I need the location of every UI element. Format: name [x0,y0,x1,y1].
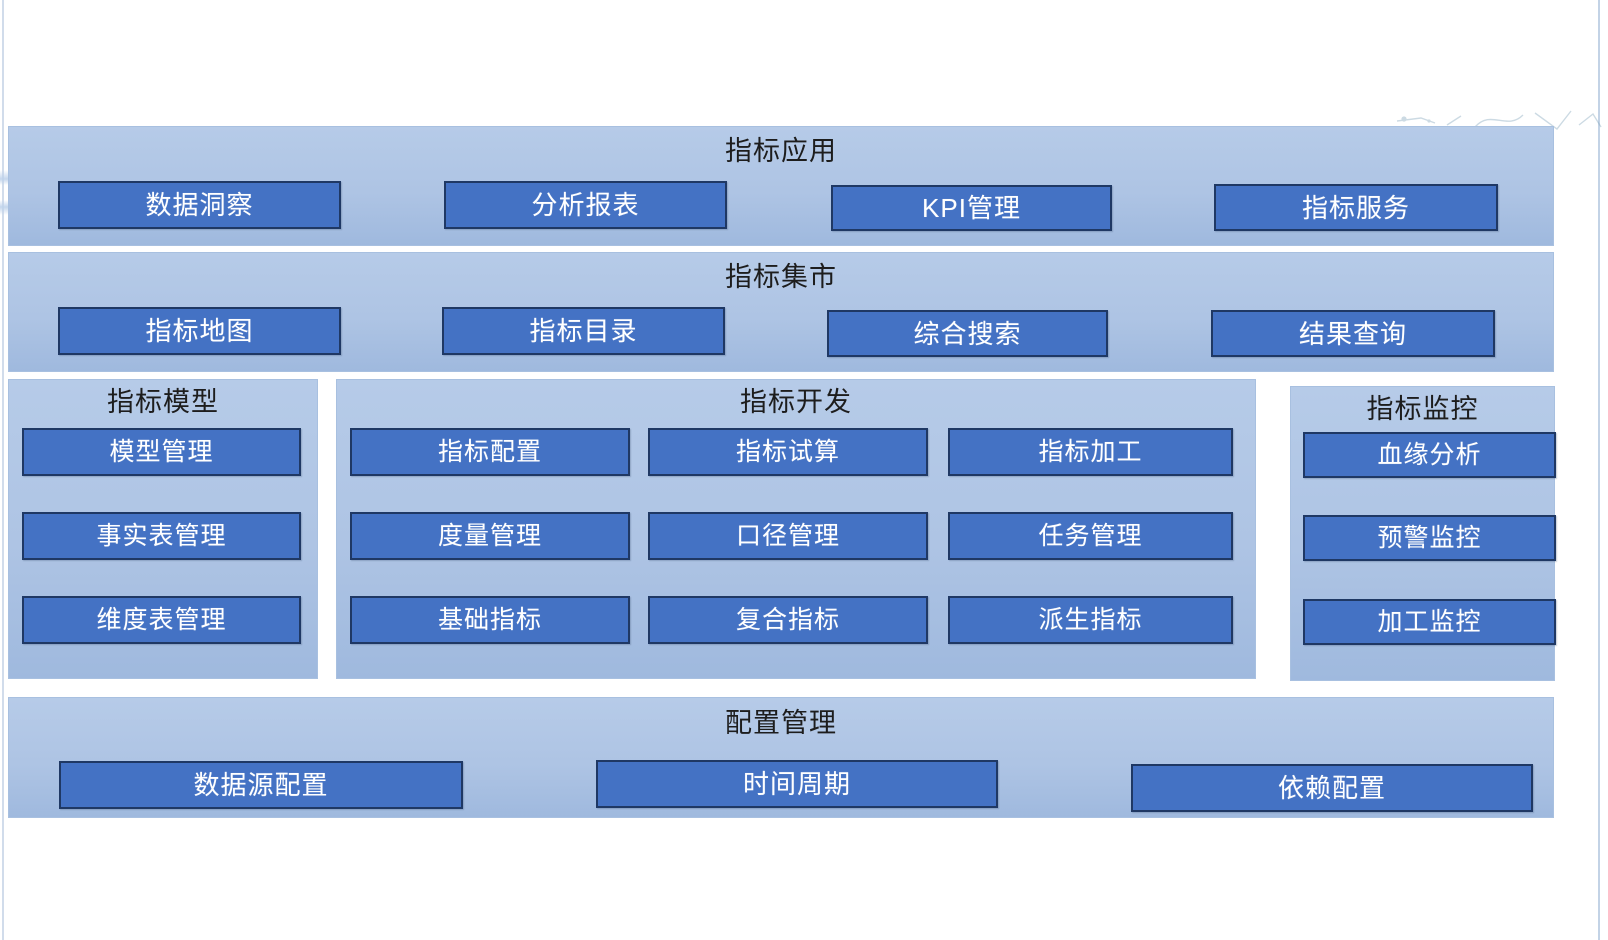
module-button-integrated-search[interactable]: 综合搜索 [827,310,1108,357]
module-button-measure-management[interactable]: 度量管理 [350,512,630,560]
scan-edge-line-left [2,0,4,940]
module-button-kpi-management[interactable]: KPI管理 [831,185,1112,231]
module-button-indicator-processing[interactable]: 指标加工 [948,428,1233,476]
module-button-basic-indicator[interactable]: 基础指标 [350,596,630,644]
layer-panel-indicator-development: 指标开发 指标配置 指标试算 指标加工 度量管理 口径管理 任务管理 基础指标 … [336,379,1256,679]
module-button-composite-indicator[interactable]: 复合指标 [648,596,928,644]
module-button-datasource-configuration[interactable]: 数据源配置 [59,761,463,809]
module-button-indicator-map[interactable]: 指标地图 [58,307,341,355]
module-button-dimension-table-management[interactable]: 维度表管理 [22,596,301,644]
layer-title-indicator-monitor: 指标监控 [1291,393,1554,425]
module-button-indicator-catalog[interactable]: 指标目录 [442,307,725,355]
layer-panel-indicator-application: 指标应用 数据洞察 分析报表 KPI管理 指标服务 [8,126,1554,246]
module-button-model-management[interactable]: 模型管理 [22,428,301,476]
module-button-dependency-configuration[interactable]: 依赖配置 [1131,764,1533,812]
module-button-lineage-analysis[interactable]: 血缘分析 [1303,432,1556,478]
module-button-indicator-trial-calculation[interactable]: 指标试算 [648,428,928,476]
module-button-caliber-management[interactable]: 口径管理 [648,512,928,560]
module-button-indicator-configuration[interactable]: 指标配置 [350,428,630,476]
module-button-indicator-service[interactable]: 指标服务 [1214,184,1498,231]
module-button-alert-monitoring[interactable]: 预警监控 [1303,515,1556,561]
layer-panel-indicator-monitor: 指标监控 血缘分析 预警监控 加工监控 [1290,386,1555,681]
layer-title-indicator-development: 指标开发 [337,386,1255,418]
module-button-analysis-report[interactable]: 分析报表 [444,181,727,229]
layer-panel-indicator-model: 指标模型 模型管理 事实表管理 维度表管理 [8,379,318,679]
module-button-time-period[interactable]: 时间周期 [596,760,998,808]
layer-panel-configuration-management: 配置管理 数据源配置 时间周期 依赖配置 [8,697,1554,818]
module-button-fact-table-management[interactable]: 事实表管理 [22,512,301,560]
module-button-processing-monitoring[interactable]: 加工监控 [1303,599,1556,645]
module-button-derived-indicator[interactable]: 派生指标 [948,596,1233,644]
module-button-data-insight[interactable]: 数据洞察 [58,181,341,229]
layer-panel-indicator-market: 指标集市 指标地图 指标目录 综合搜索 结果查询 [8,252,1554,372]
scan-edge-line-right [1598,0,1600,940]
layer-title-indicator-application: 指标应用 [9,135,1553,167]
layer-title-indicator-market: 指标集市 [9,261,1553,293]
layer-title-configuration-management: 配置管理 [9,707,1553,739]
module-button-task-management[interactable]: 任务管理 [948,512,1233,560]
layer-title-indicator-model: 指标模型 [9,386,317,418]
module-button-result-query[interactable]: 结果查询 [1211,310,1495,357]
diagram-canvas: 指标应用 数据洞察 分析报表 KPI管理 指标服务 指标集市 指标地图 指标目录… [0,0,1608,940]
